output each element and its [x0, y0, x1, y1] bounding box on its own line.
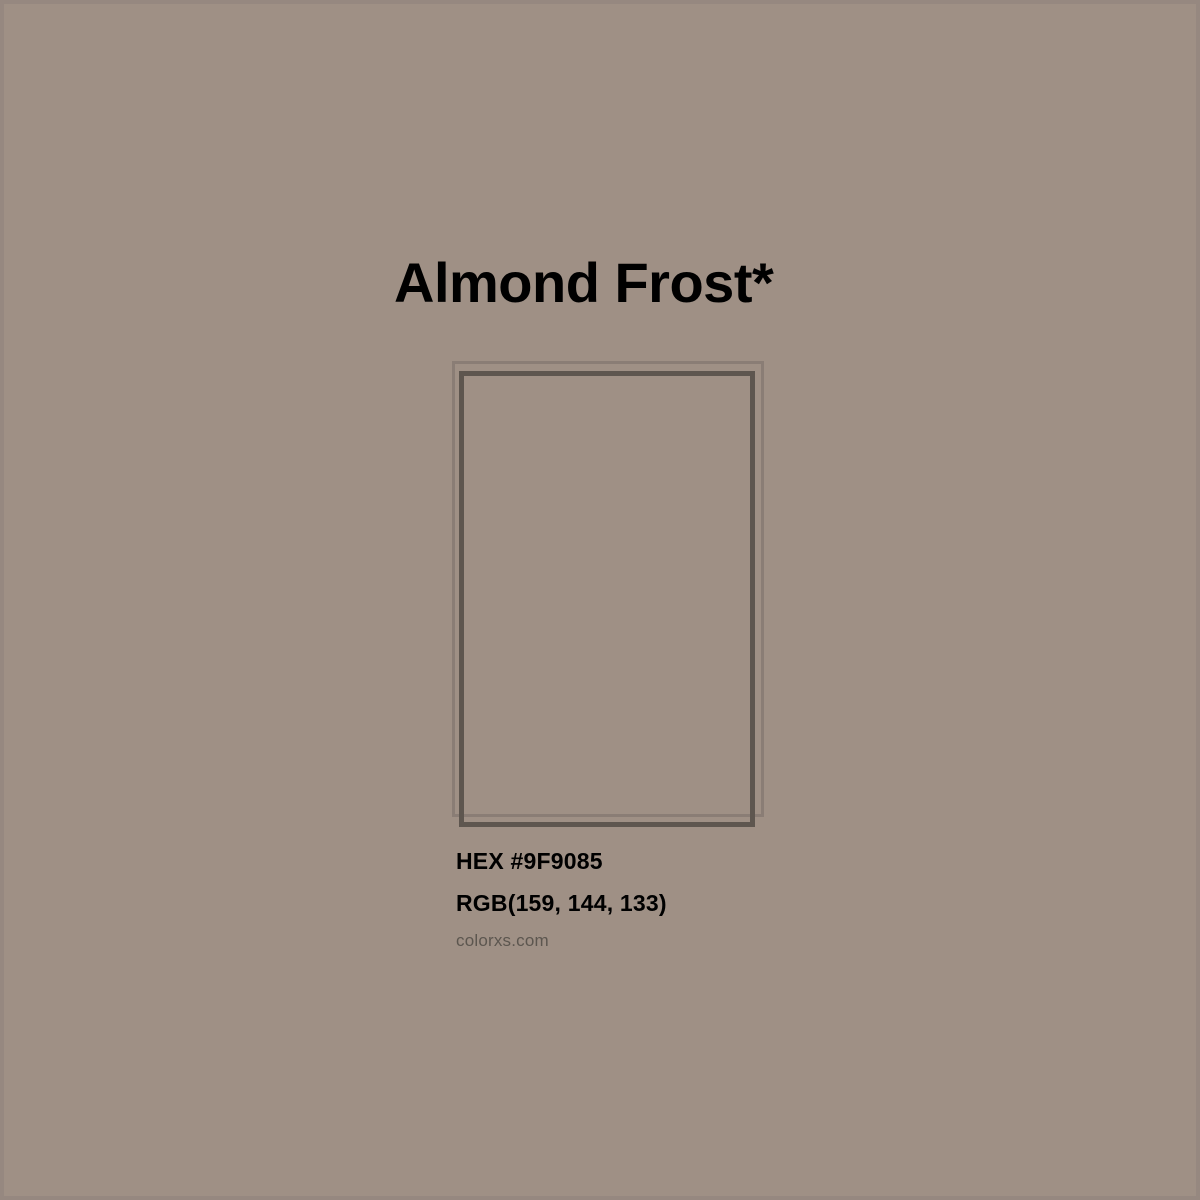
- color-swatch-page: Almond Frost* HEX #9F9085 RGB(159, 144, …: [0, 0, 1200, 1200]
- site-credit-label: colorxs.com: [456, 930, 976, 952]
- rgb-value-label: RGB(159, 144, 133): [456, 882, 976, 924]
- swatch-outline-front: [459, 371, 755, 827]
- color-info-block: HEX #9F9085 RGB(159, 144, 133) colorxs.c…: [456, 840, 976, 952]
- color-swatch: [4, 4, 1200, 1200]
- swatch-outline-back: [452, 361, 764, 817]
- page-title: Almond Frost*: [394, 250, 1034, 316]
- hex-value-label: HEX #9F9085: [456, 840, 976, 882]
